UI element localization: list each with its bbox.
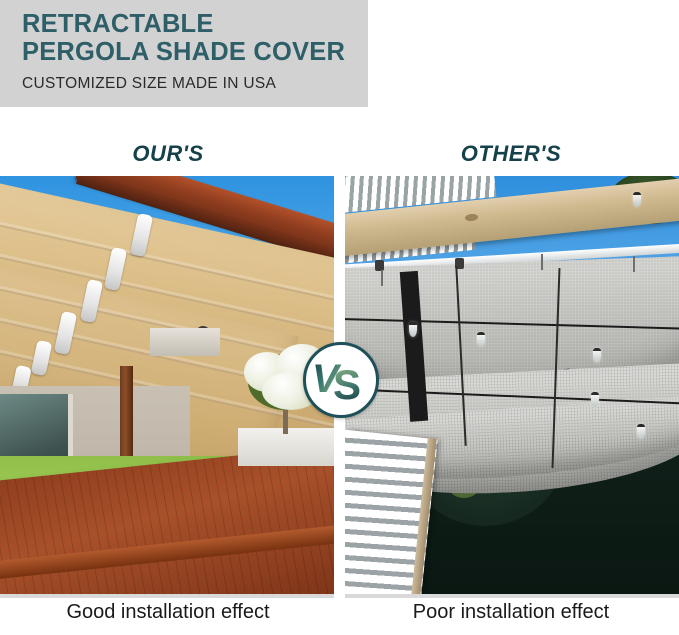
photo-ours-scene: [0, 176, 334, 594]
string-light-bulb: [633, 192, 641, 207]
header-banner: RETRACTABLE PERGOLA SHADE COVER CUSTOMIZ…: [0, 0, 368, 107]
page-title: RETRACTABLE PERGOLA SHADE COVER: [22, 10, 368, 66]
string-light-bulb: [591, 392, 599, 407]
caption-good-installation: Good installation effect: [0, 601, 336, 624]
photo-ours: [0, 176, 334, 594]
column-label-others: OTHER'S: [343, 141, 679, 167]
neighbor-roof: [150, 328, 220, 356]
shade-hook: [541, 254, 543, 270]
page-subtitle: CUSTOMIZED SIZE MADE IN USA: [22, 75, 368, 93]
string-light-bulb: [637, 424, 645, 439]
caption-poor-installation: Poor installation effect: [343, 601, 679, 624]
photo-others: [345, 176, 679, 594]
vs-badge: V S: [303, 342, 379, 418]
photo-divider-gap: [334, 594, 345, 598]
string-light-bulb: [593, 348, 601, 363]
photo-others-scene: [345, 176, 679, 594]
svg-text:S: S: [333, 361, 361, 402]
shade-hook: [633, 256, 635, 272]
string-light-bulb: [409, 322, 417, 337]
string-light-bulb: [477, 332, 485, 347]
shade-hook: [381, 270, 383, 286]
column-label-ours: OUR'S: [0, 141, 336, 167]
